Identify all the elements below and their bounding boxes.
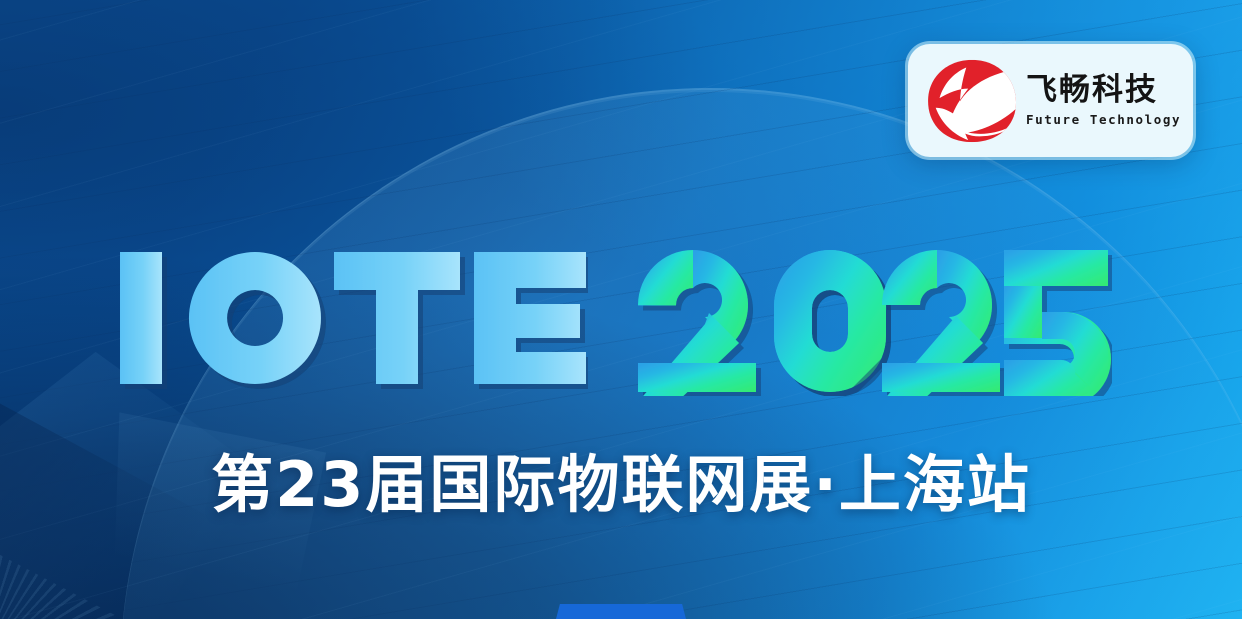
company-name-cn: 飞畅科技: [1026, 74, 1181, 107]
event-subtitle: 第23届国际物联网展·上海站: [0, 452, 1242, 517]
company-logo-text: 飞畅科技 Future Technology: [1026, 74, 1181, 126]
bottom-accent-tab: [556, 604, 686, 619]
event-year-lettering: [634, 246, 1112, 396]
background-ray-fan: [0, 500, 220, 619]
company-logo-badge[interactable]: 飞畅科技 Future Technology: [908, 44, 1193, 157]
company-name-en: Future Technology: [1026, 112, 1181, 127]
iote-2025-event-banner: 飞畅科技 Future Technology: [0, 0, 1242, 619]
event-wordmark: [118, 246, 1112, 396]
feichang-logo-icon: [924, 58, 1020, 144]
iote-brand-lettering: [118, 246, 588, 396]
